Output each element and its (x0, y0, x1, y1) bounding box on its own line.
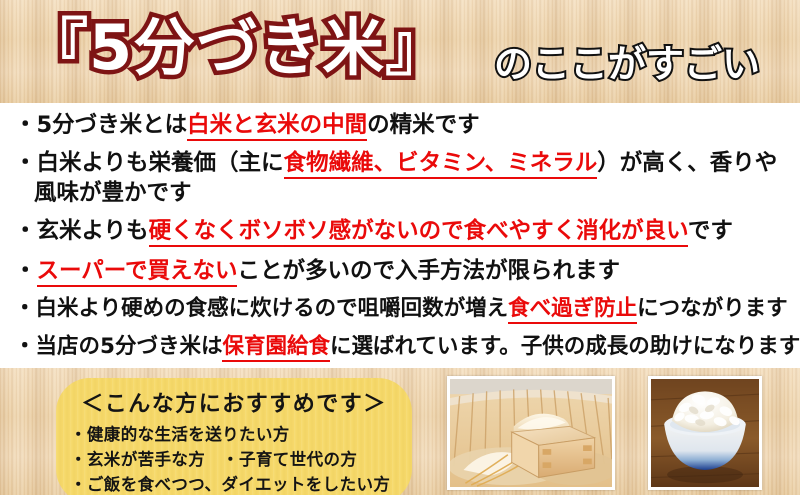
bullet-text-highlight: スーパーで買えない (37, 258, 238, 287)
bullet-text-highlight: 保育園給食 (222, 334, 330, 362)
rice-bowl-illustration (651, 379, 759, 487)
bullet-text-plain: の精米です (367, 112, 480, 138)
bullet-text-plain: ・5分づき米とは (14, 112, 187, 138)
benefits-list: ・5分づき米とは白米と玄米の中間の精米です ・白米よりも栄養価（主に食物繊維、ビ… (0, 104, 800, 368)
bullet-text-plain: ・白米より硬めの食感に炊けるので咀嚼回数が増え (14, 296, 508, 321)
list-item: ・当店の5分づき米は保育園給食に選ばれています。子供の成長の助けになります (14, 332, 792, 362)
bullet-text-plain: ）が高く、香りや (597, 150, 777, 176)
bullet-text-plain: ・ (14, 258, 37, 284)
bullet-text-highlight: 食物繊維、ビタミン、ミネラル (284, 150, 598, 179)
list-item: ・5分づき米とは白米と玄米の中間の精米です (14, 110, 792, 140)
rice-in-masu-box-photo (447, 376, 615, 490)
recommendation-heading: ＜こんな方におすすめです＞ (56, 386, 412, 418)
bullet-text-plain: につながります (637, 296, 788, 321)
bullet-text-plain: に選ばれています。子供の成長の助けになります (330, 334, 800, 359)
recommendation-line: ・健康的な生活を送りたい方 (70, 421, 412, 445)
bottom-band: ＜こんな方におすすめです＞ ・健康的な生活を送りたい方 ・玄米が苦手な方 ・子育… (0, 368, 800, 495)
list-item: ・スーパーで買えないことが多いので入手方法が限られます (14, 256, 792, 286)
bowl-of-rice-photo (648, 376, 762, 490)
promo-banner: 『5分づき米』 のここがすごい ・5分づき米とは白米と玄米の中間の精米です ・白… (0, 0, 800, 495)
header-inner: 『5分づき米』 のここがすごい (0, 0, 800, 103)
rice-masu-illustration (450, 379, 612, 487)
recommendation-line: ・ご飯を食べつつ、ダイエットをしたい方 (70, 471, 412, 495)
bullet-text-plain: です (688, 218, 733, 244)
list-item: ・白米より硬めの食感に炊けるので咀嚼回数が増え食べ過ぎ防止につながります (14, 294, 792, 324)
header-banner: 『5分づき米』 のここがすごい (0, 0, 800, 103)
bullet-text-highlight: 食べ過ぎ防止 (508, 296, 637, 324)
list-item: ・白米よりも栄養価（主に食物繊維、ビタミン、ミネラル）が高く、香りや (14, 148, 792, 178)
list-item: ・玄米よりも硬くなくボソボソ感がないので食べやすく消化が良いです (14, 216, 792, 246)
recommendation-line: ・玄米が苦手な方 ・子育て世代の方 (70, 446, 412, 470)
page-title: 『5分づき米』 (26, 9, 448, 87)
bullet-text-plain: ・当店の5分づき米は (14, 334, 222, 359)
list-item-continuation: 風味が豊かです (34, 178, 800, 208)
recommendation-panel: ＜こんな方におすすめです＞ ・健康的な生活を送りたい方 ・玄米が苦手な方 ・子育… (56, 378, 412, 495)
page-subtitle: のここがすごい (494, 40, 760, 88)
bullet-text-highlight: 白米と玄米の中間 (187, 112, 367, 141)
bullet-text-plain: ことが多いので入手方法が限られます (237, 258, 620, 284)
bullet-text-plain: ・白米よりも栄養価（主に (14, 150, 284, 176)
bullet-text-plain: ・玄米よりも (14, 218, 149, 244)
bullet-text-highlight: 硬くなくボソボソ感がないので食べやすく消化が良い (149, 218, 688, 247)
